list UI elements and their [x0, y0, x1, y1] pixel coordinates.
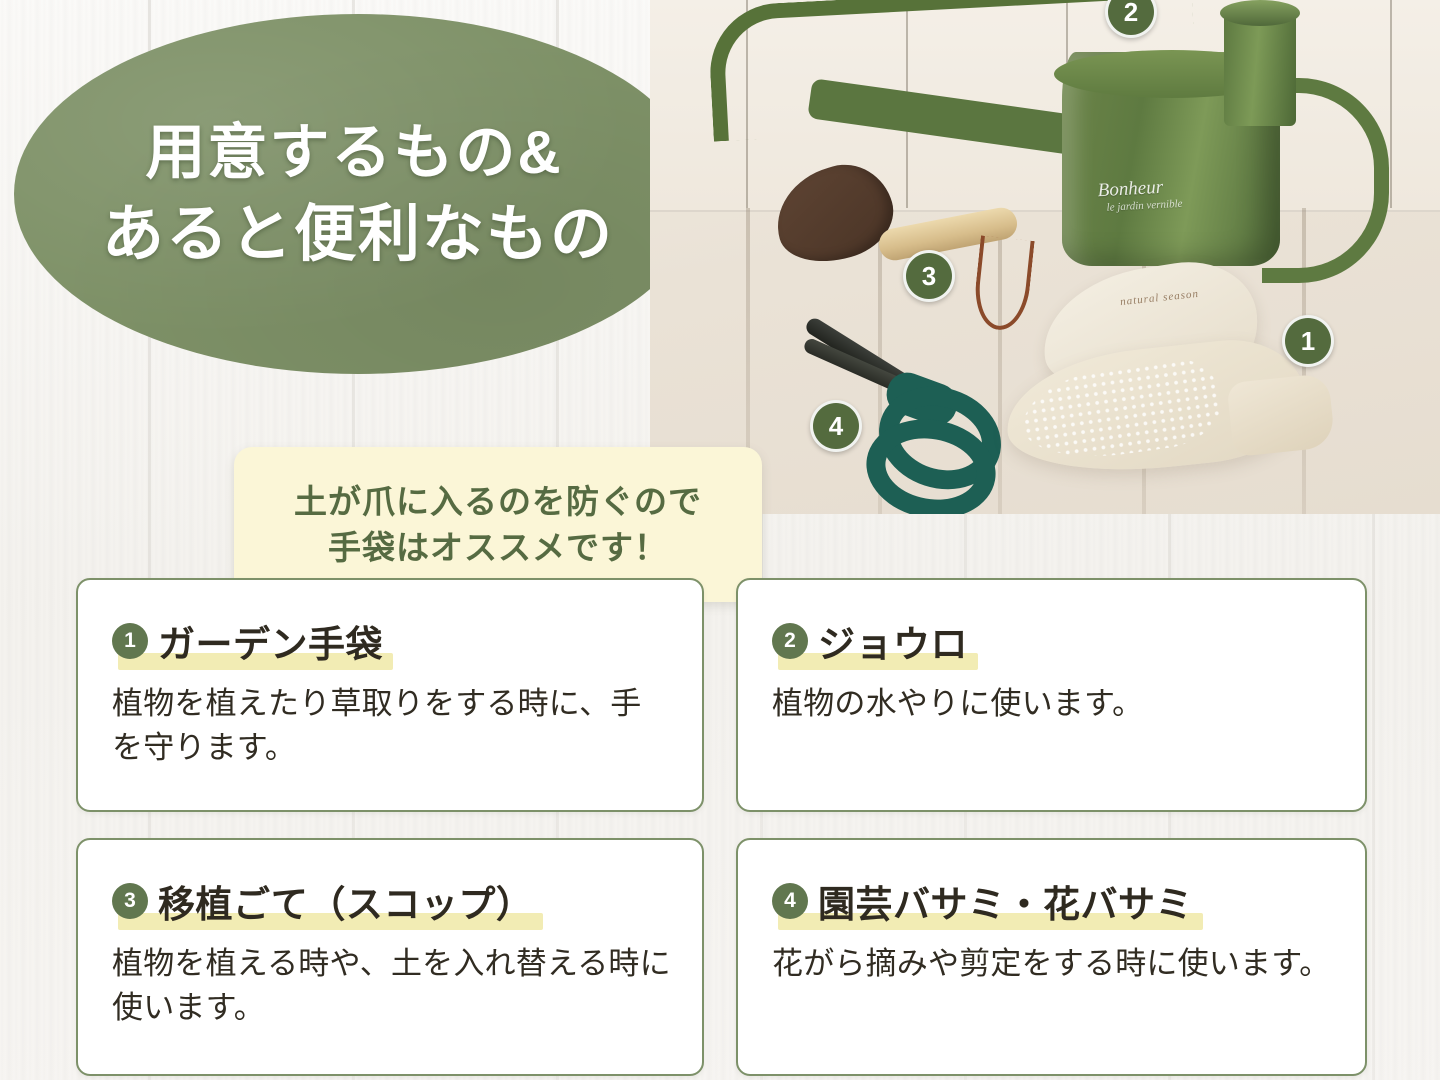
- title-ellipse: 用意するもの& あると便利なもの: [14, 14, 702, 374]
- item-card-4[interactable]: 4 園芸バサミ・花バサミ 花がら摘みや剪定をする時に使います。: [736, 838, 1367, 1076]
- glove-cuff: [1226, 373, 1335, 457]
- speech-bubble-line-2: 手袋はオススメです！: [328, 528, 668, 568]
- card-3-body: 植物を植える時や、土を入れ替える時に使います。: [112, 942, 672, 1030]
- card-4-title: 園芸バサミ・花バサミ: [818, 874, 1193, 928]
- watering-can-brand-name: Bonheur: [1097, 177, 1163, 201]
- card-3-title: 移植ごて（スコップ）: [158, 874, 533, 928]
- card-2-header: 2 ジョウロ: [772, 614, 968, 668]
- card-4-body: 花がら摘みや剪定をする時に使います。: [772, 942, 1335, 986]
- card-3-header: 3 移植ごて（スコップ）: [112, 874, 533, 928]
- wall-seam: [1390, 0, 1392, 208]
- card-3-number-badge: 3: [112, 883, 148, 919]
- watering-can-spout-lip: [1220, 0, 1300, 26]
- card-2-title: ジョウロ: [818, 614, 968, 668]
- card-1-header: 1 ガーデン手袋: [112, 614, 383, 668]
- photo-badge-4: 4: [810, 400, 862, 452]
- card-4-header: 4 園芸バサミ・花バサミ: [772, 874, 1193, 928]
- photo-badge-3: 3: [903, 250, 955, 302]
- card-2-body: 植物の水やりに使います。: [772, 682, 1335, 726]
- card-1-number-badge: 1: [112, 623, 148, 659]
- item-card-1[interactable]: 1 ガーデン手袋 植物を植えたり草取りをする時に、手を守ります。: [76, 578, 704, 812]
- card-2-number-badge: 2: [772, 623, 808, 659]
- card-1-body: 植物を植えたり草取りをする時に、手を守ります。: [112, 682, 672, 770]
- card-1-title: ガーデン手袋: [158, 614, 383, 668]
- infographic-page: 用意するもの& あると便利なもの Bonheur le jardin verni…: [0, 0, 1440, 1080]
- item-card-2[interactable]: 2 ジョウロ 植物の水やりに使います。: [736, 578, 1367, 812]
- page-title-line-1: 用意するもの&: [145, 119, 562, 186]
- trowel-leather-cord: [971, 235, 1034, 332]
- card-4-number-badge: 4: [772, 883, 808, 919]
- watering-can-brand-text: Bonheur le jardin vernible: [1097, 176, 1183, 215]
- speech-bubble-line-1: 土が爪に入るのを防ぐので: [294, 482, 702, 522]
- item-card-3[interactable]: 3 移植ごて（スコップ） 植物を植える時や、土を入れ替える時に使います。: [76, 838, 704, 1076]
- page-title-line-2: あると便利なもの: [102, 200, 614, 269]
- photo-badge-1: 1: [1282, 315, 1334, 367]
- gardening-tools-photo: Bonheur le jardin vernible natural seaso…: [650, 0, 1440, 514]
